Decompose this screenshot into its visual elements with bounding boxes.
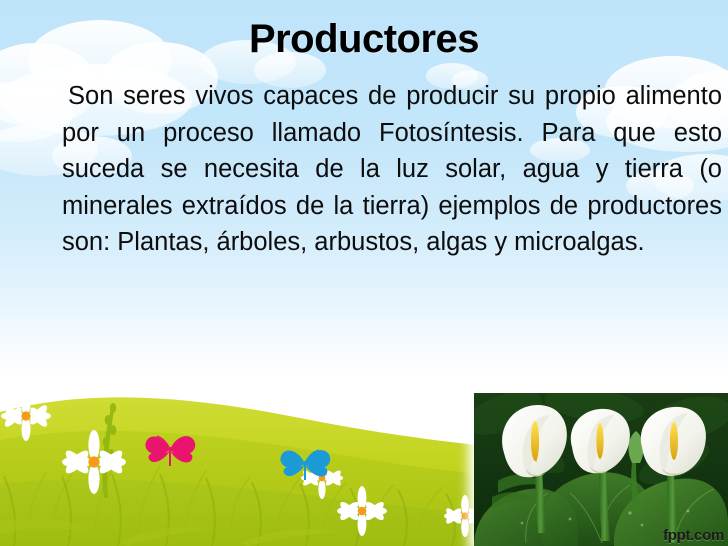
calla-lilies-photo: fppt.com	[474, 393, 728, 546]
fppt-watermark: fppt.com	[663, 527, 724, 544]
presentation-slide: Productores Son seres vivos capaces de p…	[0, 0, 728, 546]
slide-body-text: Son seres vivos capaces de producir su p…	[36, 78, 722, 261]
slide-title: Productores	[0, 16, 728, 62]
calla-lilies-illustration	[474, 393, 728, 546]
